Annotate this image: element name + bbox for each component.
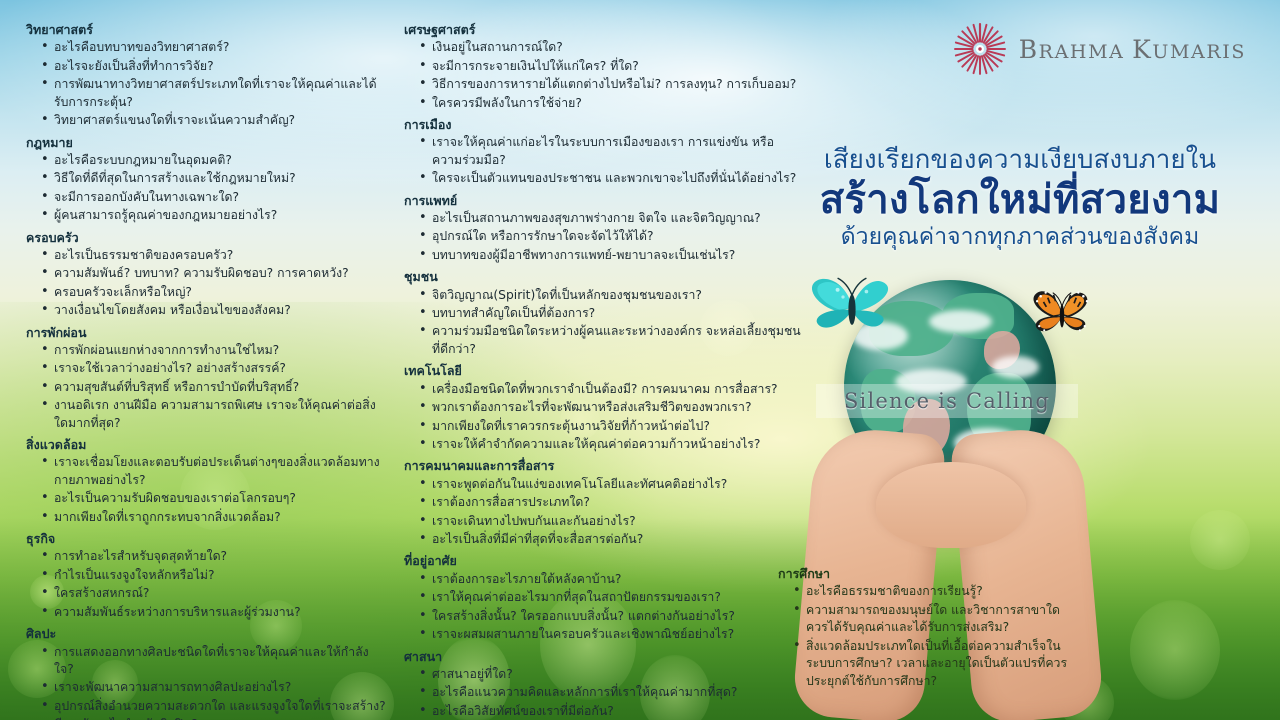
question-item: อะไรเป็นสถานภาพของสุขภาพร่างกาย จิตใจ แล… [418, 210, 804, 227]
question-list: อะไรเป็นสถานภาพของสุขภาพร่างกาย จิตใจ แล… [418, 210, 804, 264]
question-item: บทบาทของผู้มีอาชีพทางการแพทย์-พยาบาลจะเป… [418, 247, 804, 264]
question-item: การพัฒนาทางวิทยาศาสตร์ประเภทใดที่เราจะให… [40, 76, 386, 111]
question-item: กำไรเป็นแรงจูงใจหลักหรือไม่? [40, 567, 386, 584]
question-item: วางเงื่อนไขโดยสังคม หรือเงื่อนไขของสังคม… [40, 302, 386, 319]
question-item: งานอดิเรก งานฝีมือ ความสามารถพิเศษ เราจะ… [40, 397, 386, 432]
question-list: การพักผ่อนแยกห่างจากการทำงานใช่ไหม?เราจะ… [40, 342, 386, 432]
headline-line-main: สร้างโลกใหม่ที่สวยงาม [790, 178, 1250, 223]
brand-name-rahma: RAHMA [1039, 41, 1125, 63]
brand-name-umaris: UMARIS [1152, 41, 1246, 63]
question-item: เราให้คุณค่าต่ออะไรมากที่สุดในสถาปัตยกรร… [418, 589, 804, 606]
question-list: อะไรคือบทบาทของวิทยาศาสตร์?อะไรจะยังเป็น… [40, 39, 386, 129]
question-list: การทำอะไรสำหรับจุดสุดท้ายใด?กำไรเป็นแรงจ… [40, 548, 386, 621]
question-list: อะไรคือระบบกฎหมายในอุดมคติ?วิธีใดที่ดีที… [40, 152, 386, 225]
question-list: เราจะให้คุณค่าแก่อะไรในระบบการเมืองของเร… [418, 134, 804, 187]
question-item: เราต้องการอะไรภายใต้หลังคาบ้าน? [418, 571, 804, 588]
question-item: พวกเราต้องการอะไรที่จะพัฒนาหรือส่งเสริมช… [418, 399, 804, 416]
monarch-butterfly-icon [1026, 282, 1098, 346]
question-item: เราจะใช้เวลาว่างอย่างไร? อย่างสร้างสรรค์… [40, 360, 386, 377]
question-item: เราต้องการสื่อสารประเภทใด? [418, 494, 804, 511]
question-item: มีรางวัลอะไรสำหรับศิลปิน? [40, 716, 386, 720]
question-item: วิธีการของการหารายได้แตกต่างไปหรือไม่? ก… [418, 76, 804, 93]
question-item: ใครสร้างสหกรณ์? [40, 585, 386, 602]
category-title: สิ่งแวดล้อม [26, 437, 386, 453]
question-list: เราต้องการอะไรภายใต้หลังคาบ้าน?เราให้คุณ… [418, 571, 804, 644]
question-item: วิธีใดที่ดีที่สุดในการสร้างและใช้กฎหมายใ… [40, 170, 386, 187]
brand-name-b: B [1019, 35, 1039, 64]
headline-line-sub: ด้วยคุณค่าจากทุกภาคส่วนของสังคม [790, 225, 1250, 251]
category-title: การแพทย์ [404, 193, 804, 209]
question-item: อุปกรณ์สิ่งอำนวยความสะดวกใด และแรงจูงใจใ… [40, 698, 386, 715]
question-item: วิทยาศาสตร์แขนงใดที่เราจะเน้นความสำคัญ? [40, 112, 386, 129]
brahma-kumaris-starburst-icon [953, 22, 1007, 76]
category-title: การศึกษา [778, 566, 1078, 582]
column-right: การศึกษาอะไรคือธรรมชาติของการเรียนรู้?คว… [778, 566, 1078, 691]
category-title: ศิลปะ [26, 626, 386, 642]
question-item: อะไรคือแนวความคิดและหลักการที่เราให้คุณค… [418, 684, 804, 701]
question-list: อะไรเป็นธรรมชาติของครอบครัว?ความสัมพันธ์… [40, 247, 386, 320]
category-title: ครอบครัว [26, 230, 386, 246]
question-item: ผู้คนสามารถรู้คุณค่าของกฎหมายอย่างไร? [40, 207, 386, 224]
question-item: ความร่วมมือชนิดใดระหว่างผู้คนและระหว่างอ… [418, 323, 804, 358]
question-item: อะไรคือวิสัยทัศน์ของเราที่มีต่อกัน? [418, 703, 804, 720]
question-item: เราจะให้คุณค่าแก่อะไรในระบบการเมืองของเร… [418, 134, 804, 169]
question-list: การแสดงออกทางศิลปะชนิดใดที่เราจะให้คุณค่… [40, 644, 386, 720]
category-title: การเมือง [404, 117, 804, 133]
question-item: ใครจะเป็นตัวแทนของประชาชน และพวกเขาจะไปถ… [418, 170, 804, 187]
question-item: สิ่งแวดล้อมประเภทใดเป็นที่เอื้อต่อความสำ… [792, 638, 1078, 690]
question-list: เครื่องมือชนิดใดที่พวกเราจำเป็นต้องมี? ก… [418, 381, 804, 454]
question-item: การพักผ่อนแยกห่างจากการทำงานใช่ไหม? [40, 342, 386, 359]
question-item: บทบาทสำคัญใดเป็นที่ต้องการ? [418, 305, 804, 322]
question-item: จิตวิญญาณ(Spirit)ใดที่เป็นหลักของชุมชนขอ… [418, 287, 804, 304]
question-item: การแสดงออกทางศิลปะชนิดใดที่เราจะให้คุณค่… [40, 644, 386, 679]
question-item: อะไรคือระบบกฎหมายในอุดมคติ? [40, 152, 386, 169]
category-title: ธุรกิจ [26, 531, 386, 547]
question-item: ใครควรมีพลังในการใช้จ่าย? [418, 95, 804, 112]
category-title: ที่อยู่อาศัย [404, 553, 804, 569]
question-item: ความสัมพันธ์? บทบาท? ความรับผิดชอบ? การค… [40, 265, 386, 282]
question-item: เราจะพูดต่อกันในแง่ของเทคโนโลยีและทัศนคต… [418, 476, 804, 493]
brand-name: BRAHMA KUMARIS [1019, 35, 1246, 64]
teal-butterfly-icon [806, 270, 898, 342]
question-item: การทำอะไรสำหรับจุดสุดท้ายใด? [40, 548, 386, 565]
question-item: เงินอยู่ในสถานการณ์ใด? [418, 39, 804, 56]
silence-is-calling-banner: Silence is Calling [816, 384, 1078, 418]
headline-block: เสียงเรียกของความเงียบสงบภายใน สร้างโลกใ… [790, 146, 1250, 251]
question-list: เราจะเชื่อมโยงและตอบรับต่อประเด็นต่างๆขอ… [40, 454, 386, 526]
question-item: อุปกรณ์ใด หรือการรักษาใดจะจัดไว้ให้ได้? [418, 228, 804, 245]
question-item: ศาสนาอยู่ที่ใด? [418, 666, 804, 683]
category-title: ชุมชน [404, 269, 804, 285]
column-middle: เศรษฐศาสตร์เงินอยู่ในสถานการณ์ใด?จะมีการ… [404, 22, 804, 720]
question-list: จิตวิญญาณ(Spirit)ใดที่เป็นหลักของชุมชนขอ… [418, 287, 804, 359]
category-title: การพักผ่อน [26, 325, 386, 341]
question-item: เราจะให้คำจำกัดความและให้คุณค่าต่อความก้… [418, 436, 804, 453]
question-item: จะมีการออกบังคับในทางเฉพาะใด? [40, 189, 386, 206]
silence-is-calling-text: Silence is Calling [844, 389, 1050, 413]
question-item: ความสามารถของมนุษย์ใด และวิชาการสาขาใดคว… [792, 602, 1078, 637]
category-title: กฎหมาย [26, 135, 386, 151]
headline-line-top: เสียงเรียกของความเงียบสงบภายใน [790, 146, 1250, 175]
category-title: การคมนาคมและการสื่อสาร [404, 458, 804, 474]
question-item: มากเพียงใดที่เราควรกระตุ้นงานวิจัยที่ก้า… [418, 418, 804, 435]
question-item: จะมีการกระจายเงินไปให้แก่ใคร? ที่ใด? [418, 58, 804, 75]
question-item: ครอบครัวจะเล็กหรือใหญ่? [40, 284, 386, 301]
question-item: อะไรเป็นความรับผิดชอบของเราต่อโลกรอบๆ? [40, 490, 386, 507]
question-item: อะไรคือบทบาทของวิทยาศาสตร์? [40, 39, 386, 56]
question-item: อะไรเป็นธรรมชาติของครอบครัว? [40, 247, 386, 264]
question-list: เราจะพูดต่อกันในแง่ของเทคโนโลยีและทัศนคต… [418, 476, 804, 549]
category-title: เศรษฐศาสตร์ [404, 22, 804, 38]
question-item: อะไรเป็นสิ่งที่มีค่าที่สุดที่จะสื่อสารต่… [418, 531, 804, 548]
question-item: เครื่องมือชนิดใดที่พวกเราจำเป็นต้องมี? ก… [418, 381, 804, 398]
question-item: ใครสร้างสิ่งนั้น? ใครออกแบบสิ่งนั้น? แตก… [418, 608, 804, 625]
brand-name-k: K [1132, 35, 1152, 64]
brand-logo: BRAHMA KUMARIS [953, 22, 1246, 76]
question-item: อะไรคือธรรมชาติของการเรียนรู้? [792, 583, 1078, 600]
question-item: เราจะเชื่อมโยงและตอบรับต่อประเด็นต่างๆขอ… [40, 454, 386, 489]
question-list: ศาสนาอยู่ที่ใด?อะไรคือแนวความคิดและหลักก… [418, 666, 804, 720]
question-list: อะไรคือธรรมชาติของการเรียนรู้?ความสามารถ… [792, 583, 1078, 690]
question-item: เราจะพัฒนาความสามารถทางศิลปะอย่างไร? [40, 679, 386, 696]
question-item: เราจะผสมผสานภายในครอบครัวและเชิงพาณิชย์อ… [418, 626, 804, 643]
category-title: วิทยาศาสตร์ [26, 22, 386, 38]
palm-cup [876, 462, 1026, 548]
question-item: ความสัมพันธ์ระหว่างการบริหารและผู้ร่วมงา… [40, 604, 386, 621]
question-item: อะไรจะยังเป็นสิ่งที่ทำการวิจัย? [40, 58, 386, 75]
question-item: เราจะเดินทางไปพบกันและกันอย่างไร? [418, 513, 804, 530]
category-title: เทคโนโลยี [404, 363, 804, 379]
column-left: วิทยาศาสตร์อะไรคือบทบาทของวิทยาศาสตร์?อะ… [26, 22, 386, 720]
question-list: เงินอยู่ในสถานการณ์ใด?จะมีการกระจายเงินไ… [418, 39, 804, 112]
question-item: ความสุขสันต์ที่บริสุทธิ์ หรือการบำบัดที่… [40, 379, 386, 396]
category-title: ศาสนา [404, 649, 804, 665]
question-item: มากเพียงใดที่เราถูกกระทบจากสิ่งแวดล้อม? [40, 509, 386, 526]
